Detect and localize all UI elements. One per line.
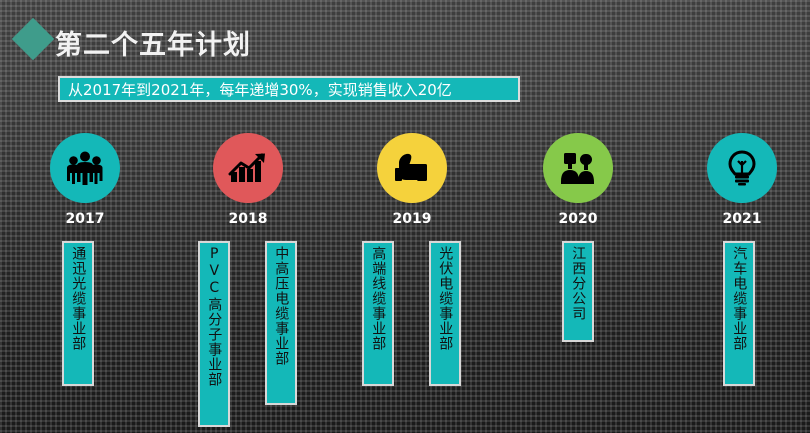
year-label-2020: 2020 xyxy=(543,211,613,227)
year-label-2018: 2018 xyxy=(213,211,283,227)
timeline-node-2019[interactable] xyxy=(377,133,447,203)
timeline-node-2018[interactable] xyxy=(213,133,283,203)
division-label: 汽车电缆事业部 xyxy=(730,246,748,351)
diamond-bullet-icon xyxy=(12,18,54,60)
division-box[interactable]: 汽车电缆事业部 xyxy=(723,241,755,386)
division-box[interactable]: 高端线缆事业部 xyxy=(362,241,394,386)
timeline-node-2017[interactable] xyxy=(50,133,120,203)
division-label: 江西分公司 xyxy=(569,246,587,321)
division-label: 光伏电缆事业部 xyxy=(436,246,454,351)
two-people-icon xyxy=(559,152,597,184)
division-label: 高端线缆事业部 xyxy=(369,246,387,351)
thumbs-up-icon xyxy=(393,151,431,185)
timeline-node-2021[interactable] xyxy=(707,133,777,203)
year-label-2017: 2017 xyxy=(50,211,120,227)
year-label-2019: 2019 xyxy=(377,211,447,227)
page-title: 第二个五年计划 xyxy=(55,23,251,62)
division-box[interactable]: 通迅光缆事业部 xyxy=(62,241,94,386)
subtitle-banner: 从2017年到2021年，每年递增30%，实现销售收入20亿 xyxy=(58,76,520,102)
growth-chart-icon xyxy=(228,152,268,184)
division-box[interactable]: 光伏电缆事业部 xyxy=(429,241,461,386)
year-label-2021: 2021 xyxy=(707,211,777,227)
timeline-node-2020[interactable] xyxy=(543,133,613,203)
division-box[interactable]: 江西分公司 xyxy=(562,241,594,342)
division-label: 通迅光缆事业部 xyxy=(69,246,87,351)
group-people-icon xyxy=(66,151,104,185)
presentation-slide: 第二个五年计划 从2017年到2021年，每年递增30%，实现销售收入20亿 xyxy=(0,0,810,433)
division-box[interactable]: 中高压电缆事业部 xyxy=(265,241,297,405)
subtitle-text: 从2017年到2021年，每年递增30%，实现销售收入20亿 xyxy=(68,79,452,100)
division-label: PVC高分子事业部 xyxy=(205,246,223,387)
lightbulb-idea-icon xyxy=(726,150,758,186)
division-label: 中高压电缆事业部 xyxy=(272,246,290,366)
division-box[interactable]: PVC高分子事业部 xyxy=(198,241,230,427)
